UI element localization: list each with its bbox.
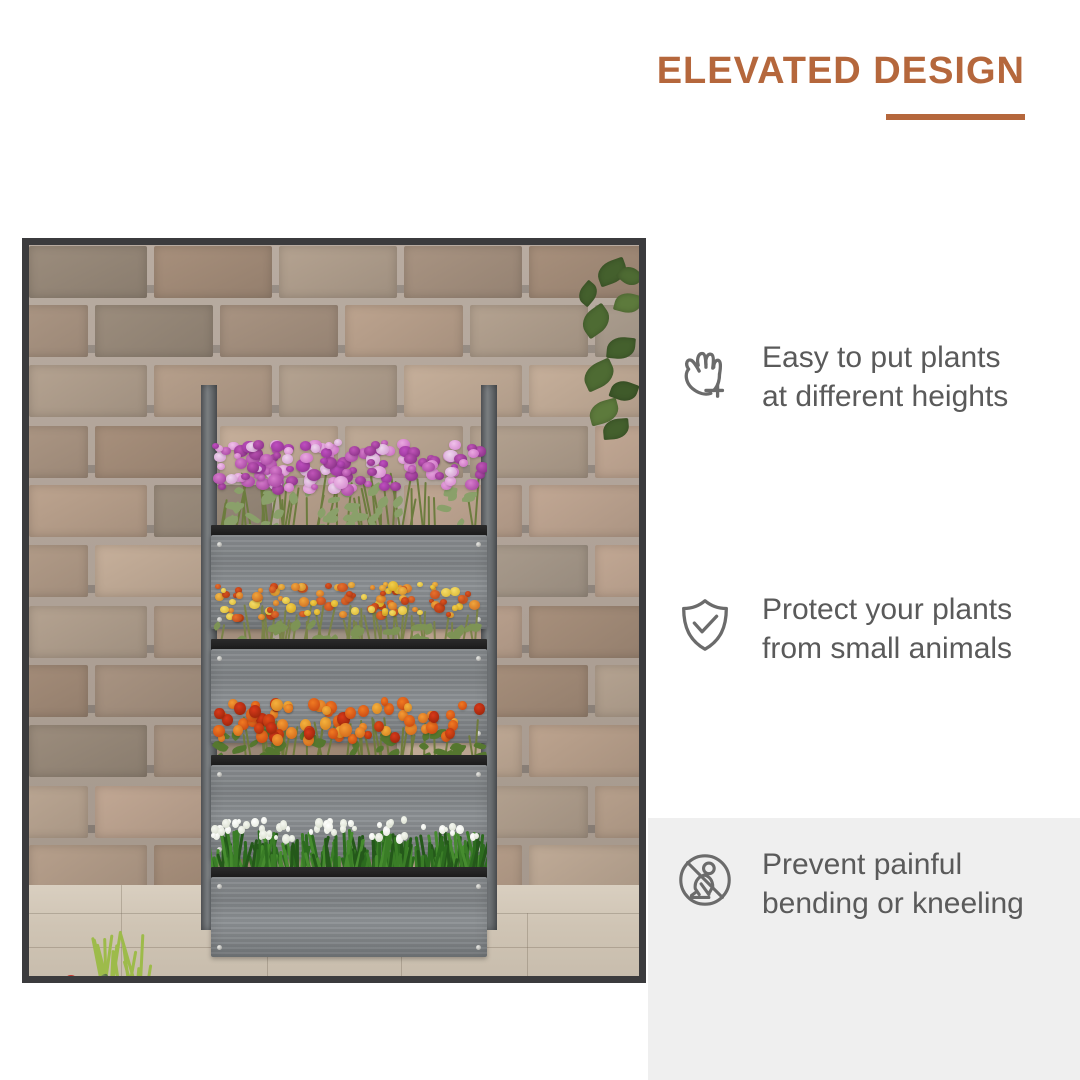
planter-tier-4-plants [211,815,487,871]
feature-2-text: Protect your plants from small animals [762,590,1012,668]
elevated-planter [189,385,489,930]
header: ELEVATED DESIGN [600,52,1025,120]
feature-1-text: Easy to put plants at different heights [762,338,1008,416]
title-underline-rule [886,114,1025,120]
planter-tier-2-plants [211,581,487,643]
feature-row-1: Easy to put plants at different heights [674,338,1008,416]
photo-scene [29,245,639,976]
feature-row-3: Prevent painful bending or kneeling [674,845,1024,923]
feature-3-text: Prevent painful bending or kneeling [762,845,1024,923]
ivy-foliage [519,251,639,451]
infographic-canvas: ELEVATED DESIGN [0,0,1080,1080]
planter-tier-4-board [211,877,487,957]
product-photo [22,238,646,983]
page-title: ELEVATED DESIGN [600,52,1025,90]
potted-plant-foliage [45,945,195,983]
feature-row-2: Protect your plants from small animals [674,590,1012,668]
planter-tier-1-plants [211,439,487,529]
glove-icon [674,342,736,404]
no-kneeling-icon [674,849,736,911]
planter-tier-3-plants [211,697,487,759]
shield-check-icon [674,594,736,656]
